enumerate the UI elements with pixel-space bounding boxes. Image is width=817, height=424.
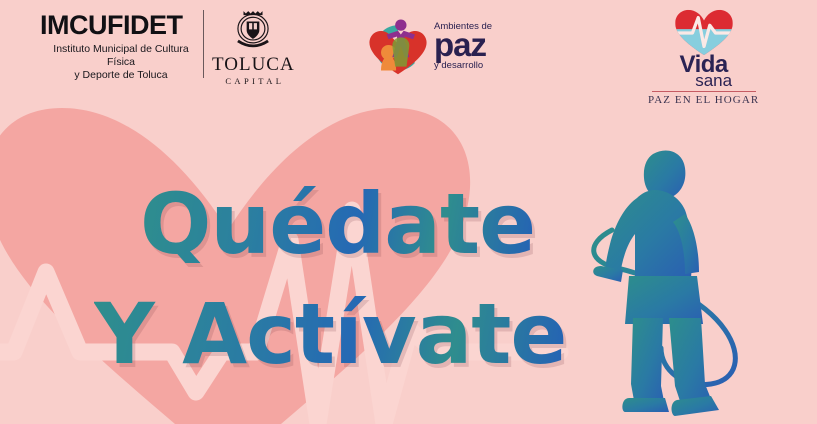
paz-adult-figure <box>395 19 406 30</box>
vida-wordmark-line2: sana <box>675 73 732 89</box>
vida-tagline: PAZ EN EL HOGAR <box>648 94 759 106</box>
imcufidet-subtitle: Instituto Municipal de Cultura Física y … <box>40 43 202 82</box>
paz-text-block: Ambientes de paz y desarrollo <box>434 22 492 70</box>
vida-rule <box>652 91 756 92</box>
logo-toluca-capital: TOLUCA CAPITAL <box>212 8 295 86</box>
logo-imcufidet: IMCUFIDET Instituto Municipal de Cultura… <box>40 12 202 82</box>
headline-line-2: Y Actívate <box>94 296 566 373</box>
imcufidet-wordmark: IMCUFIDET <box>40 12 182 39</box>
toluca-coat-of-arms-icon <box>229 8 277 54</box>
ambientes-de-paz-heart-figures-icon <box>364 10 432 78</box>
poster-canvas: IMCUFIDET Instituto Municipal de Cultura… <box>0 0 817 424</box>
logo-bar: IMCUFIDET Instituto Municipal de Cultura… <box>0 0 817 96</box>
imcufidet-subtitle-line2: y Deporte de Toluca <box>40 69 202 82</box>
athlete-body <box>593 150 719 416</box>
toluca-subtitle: CAPITAL <box>222 76 284 86</box>
vida-sana-heart-pulse-icon <box>673 8 735 56</box>
paz-wordmark: paz <box>434 31 492 59</box>
headline-line-1: Quédate <box>140 186 535 263</box>
logo-ambientes-de-paz: Ambientes de paz y desarrollo <box>364 10 492 78</box>
person-with-jump-rope-silhouette-icon <box>565 148 817 424</box>
logo-divider <box>203 10 204 78</box>
toluca-wordmark: TOLUCA <box>212 55 295 74</box>
imcufidet-subtitle-line1: Instituto Municipal de Cultura Física <box>40 43 202 69</box>
logo-vida-sana: Vida sana PAZ EN EL HOGAR <box>648 8 759 106</box>
